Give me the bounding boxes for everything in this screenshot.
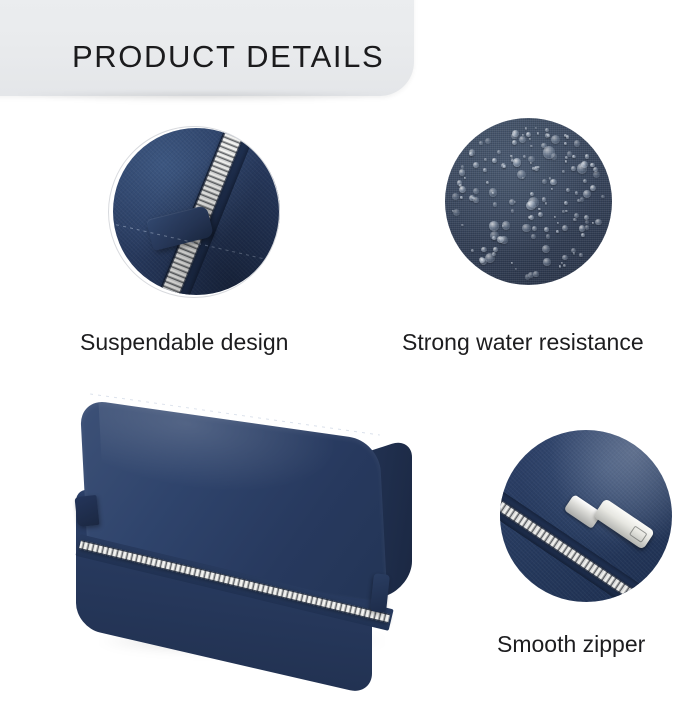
water-droplet [572, 155, 576, 159]
water-droplet [532, 167, 534, 169]
water-droplet [513, 158, 521, 166]
water-droplet [492, 158, 497, 163]
water-droplet [460, 196, 462, 198]
water-droplet [583, 190, 591, 198]
water-droplet [557, 222, 559, 224]
water-droplet [535, 127, 537, 129]
water-droplet [575, 191, 578, 194]
water-droplet [479, 141, 482, 144]
water-droplet [562, 255, 567, 260]
water-droplet [579, 253, 582, 256]
feature-caption-water-resistance: Strong water resistance [402, 328, 644, 356]
water-droplet [522, 134, 524, 136]
photo-shading [113, 128, 280, 295]
water-droplet [493, 202, 498, 207]
water-droplet [525, 274, 530, 279]
feature-image-smooth-zipper [500, 430, 672, 602]
water-droplet [452, 193, 459, 200]
water-droplet [601, 195, 604, 198]
water-droplet [571, 248, 576, 253]
water-droplet [526, 201, 535, 210]
water-droplet [564, 201, 568, 205]
water-droplet [530, 145, 532, 147]
water-droplet [528, 156, 534, 162]
page-title: PRODUCT DETAILS [72, 40, 384, 74]
water-droplet [561, 262, 563, 264]
bag-loop-handle-right [370, 573, 390, 612]
water-droplet [538, 208, 540, 210]
water-droplet [571, 166, 576, 171]
water-droplet [489, 221, 498, 230]
water-droplet [543, 146, 556, 159]
water-droplet [469, 195, 475, 201]
product-image-toiletry-bag [60, 392, 480, 692]
water-droplet [511, 159, 514, 162]
water-droplet [510, 155, 512, 157]
water-droplet [461, 224, 464, 227]
water-droplet [556, 230, 559, 233]
water-droplet [544, 227, 549, 232]
water-droplet [492, 252, 496, 256]
water-droplet [547, 134, 550, 137]
water-droplet [595, 219, 601, 225]
water-droplet [489, 188, 497, 196]
water-droplet [546, 234, 550, 238]
water-droplet [530, 192, 534, 196]
water-droplet [584, 215, 589, 220]
water-droplet [550, 179, 557, 186]
water-droplet [537, 132, 539, 134]
water-droplet [545, 202, 547, 204]
water-droplet [564, 142, 567, 145]
photo-highlight [500, 430, 672, 602]
water-droplet [559, 265, 562, 268]
water-droplet [526, 132, 531, 137]
bag-loop-handle-left [74, 495, 99, 527]
water-droplet [511, 209, 514, 212]
water-droplet [457, 180, 463, 186]
water-droplet [533, 271, 538, 276]
feature-caption-smooth-zipper: Smooth zipper [497, 630, 645, 658]
water-droplet [581, 233, 585, 237]
water-droplet [531, 234, 536, 239]
feature-caption-suspendable-design: Suspendable design [80, 328, 288, 356]
water-droplet [543, 258, 550, 265]
water-droplet [459, 169, 466, 176]
feature-image-water-resistance [445, 118, 612, 285]
water-droplet [529, 215, 534, 220]
water-droplet [574, 140, 580, 146]
water-droplet [583, 179, 587, 183]
water-droplet [565, 160, 567, 162]
water-droplet [545, 128, 549, 132]
water-droplet [542, 245, 550, 253]
water-droplet [479, 257, 485, 263]
water-droplet [459, 186, 466, 193]
water-droplet [483, 168, 486, 171]
water-droplet [585, 225, 589, 229]
water-droplet [532, 226, 537, 231]
water-droplet [565, 156, 568, 159]
water-droplet [512, 140, 517, 145]
feature-image-suspendable-design [113, 128, 280, 295]
